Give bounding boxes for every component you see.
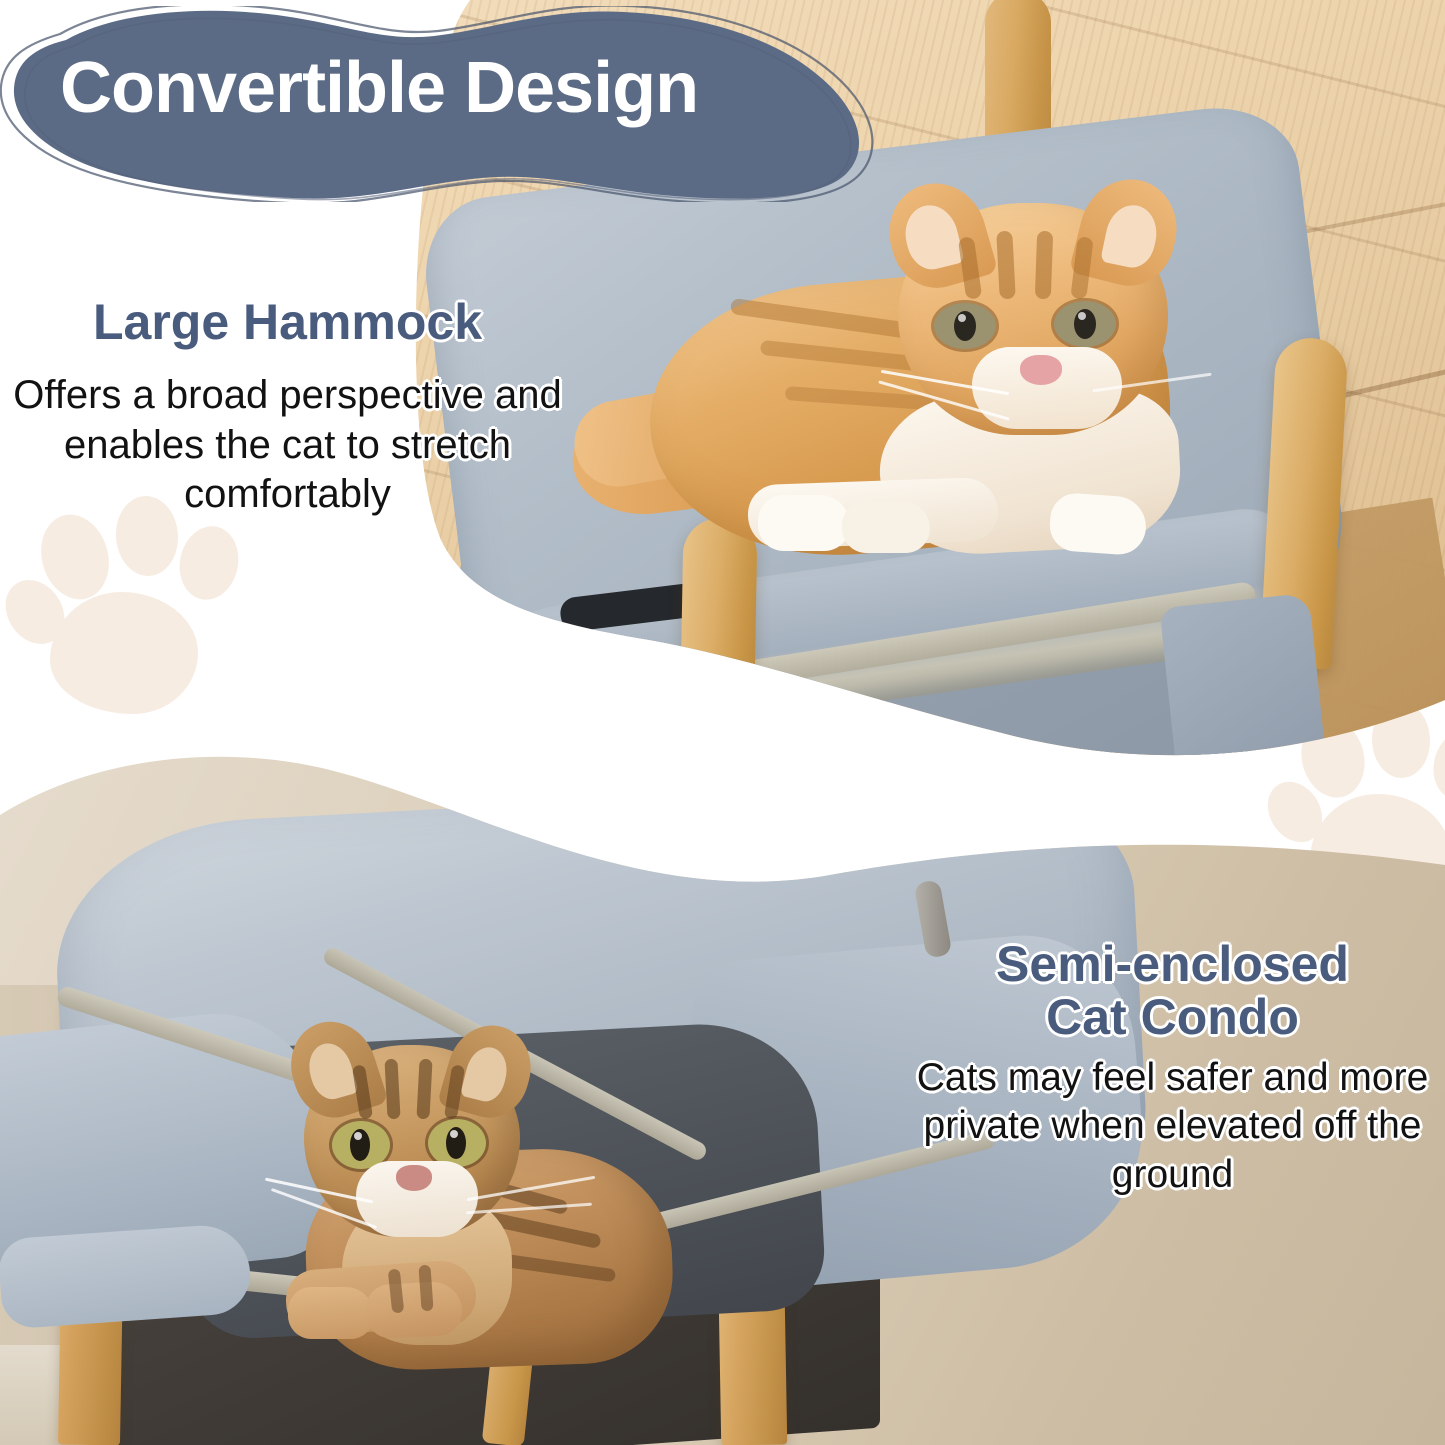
feature-body-cat-condo: Cats may feel safer and more private whe… xyxy=(900,1054,1445,1199)
paw-print-left-icon xyxy=(0,500,230,730)
feature-title-large-hammock: Large Hammock xyxy=(0,296,575,349)
condo-felt-ledge-left xyxy=(0,1222,253,1329)
feature-title-cat-condo: Semi-enclosed Cat Condo xyxy=(900,938,1445,1044)
feature-cat-condo: Semi-enclosed Cat Condo Cats may feel sa… xyxy=(900,938,1445,1199)
header-title: Convertible Design xyxy=(60,52,850,124)
feature-large-hammock: Large Hammock Offers a broad perspective… xyxy=(0,296,575,520)
feature-title-cat-condo-line-2: Cat Condo xyxy=(900,991,1445,1044)
feature-title-cat-condo-line-1: Semi-enclosed xyxy=(900,938,1445,991)
infographic-canvas: Convertible Design Large Hammock Offers … xyxy=(0,0,1445,1445)
cat-brown-tabby xyxy=(270,1035,690,1375)
feature-body-large-hammock: Offers a broad perspective and enables t… xyxy=(0,371,575,520)
cat-orange-tabby xyxy=(580,195,1270,585)
header-badge: Convertible Design xyxy=(0,6,908,202)
